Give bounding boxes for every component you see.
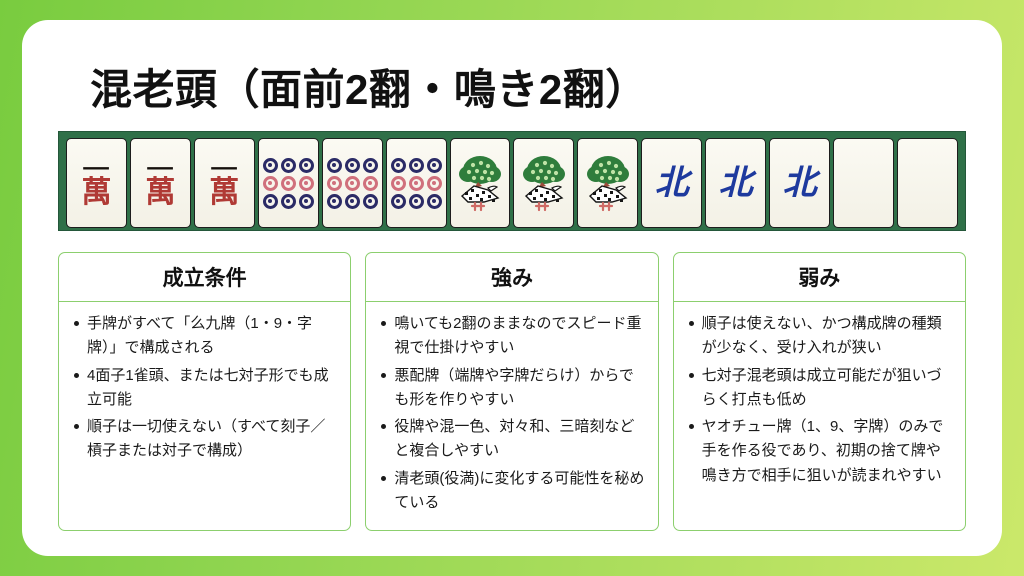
1-sou-tile — [513, 138, 574, 228]
man-bottom-glyph: 萬 — [209, 178, 239, 208]
north-glyph: 北 — [719, 166, 753, 200]
list-item: 清老頭(役満)に変化する可能性を秘めている — [394, 467, 645, 516]
page-title: 混老頭（面前2翻・鳴き2翻） — [90, 56, 648, 117]
list-item: 順子は使えない、かつ構成牌の種類が少なく、受け入れが狭い — [702, 312, 953, 361]
north-wind-tile: 北 — [705, 138, 766, 228]
list-item: 悪配牌（端牌や字牌だらけ）からでも形を作りやすい — [394, 364, 645, 413]
pin-dots-icon — [326, 157, 378, 209]
bird-bamboo-icon — [582, 152, 634, 214]
man-bottom-glyph: 萬 — [145, 178, 175, 208]
9-pin-tile — [386, 138, 447, 228]
slide-panel: 混老頭（面前2翻・鳴き2翻） 一 萬 一 萬 一 萬 — [22, 20, 1002, 556]
card-strengths: 強み 鳴いても2翻のままなのでスピード重視で仕掛けやすい 悪配牌（端牌や字牌だら… — [365, 252, 658, 531]
card-body: 手牌がすべて「么九牌（1・9・字牌）」で構成される 4面子1雀頭、または七対子形… — [59, 302, 350, 479]
list-item: 4面子1雀頭、または七対子形でも成立可能 — [87, 364, 338, 413]
mahjong-tile-strip: 一 萬 一 萬 一 萬 — [58, 131, 966, 231]
list-item: 鳴いても2翻のままなのでスピード重視で仕掛けやすい — [394, 312, 645, 361]
bullet-list: 手牌がすべて「么九牌（1・9・字牌）」で構成される 4面子1雀頭、または七対子形… — [69, 312, 338, 464]
north-glyph: 北 — [655, 166, 689, 200]
list-item: 手牌がすべて「么九牌（1・9・字牌）」で構成される — [87, 312, 338, 361]
card-weaknesses: 弱み 順子は使えない、かつ構成牌の種類が少なく、受け入れが狭い 七対子混老頭は成… — [673, 252, 966, 531]
list-item: 順子は一切使えない（すべて刻子／槓子または対子で構成） — [87, 415, 338, 464]
1-man-tile: 一 萬 — [194, 138, 255, 228]
bird-bamboo-icon — [518, 152, 570, 214]
bullet-list: 順子は使えない、かつ構成牌の種類が少なく、受け入れが狭い 七対子混老頭は成立可能… — [684, 312, 953, 488]
list-item: ヤオチュー牌（1、9、字牌）のみで手を作る役であり、初期の捨て牌や鳴き方で相手に… — [702, 415, 953, 488]
9-pin-tile — [322, 138, 383, 228]
man-top-glyph: 一 — [147, 161, 174, 177]
bullet-list: 鳴いても2翻のままなのでスピード重視で仕掛けやすい 悪配牌（端牌や字牌だらけ）か… — [376, 312, 645, 515]
blank-tile — [833, 138, 894, 228]
card-body: 順子は使えない、かつ構成牌の種類が少なく、受け入れが狭い 七対子混老頭は成立可能… — [674, 302, 965, 503]
card-heading: 弱み — [674, 253, 965, 302]
1-sou-tile — [577, 138, 638, 228]
man-bottom-glyph: 萬 — [81, 178, 111, 208]
north-wind-tile: 北 — [641, 138, 702, 228]
bird-bamboo-icon — [454, 152, 506, 214]
info-card-row: 成立条件 手牌がすべて「么九牌（1・9・字牌）」で構成される 4面子1雀頭、また… — [58, 252, 966, 531]
list-item: 七対子混老頭は成立可能だが狙いづらく打点も低め — [702, 364, 953, 413]
list-item: 役牌や混一色、対々和、三暗刻などと複合しやすい — [394, 415, 645, 464]
pin-dots-icon — [390, 157, 442, 209]
1-man-tile: 一 萬 — [66, 138, 127, 228]
north-glyph: 北 — [783, 166, 817, 200]
card-heading: 強み — [366, 253, 657, 302]
card-heading: 成立条件 — [59, 253, 350, 302]
card-body: 鳴いても2翻のままなのでスピード重視で仕掛けやすい 悪配牌（端牌や字牌だらけ）か… — [366, 302, 657, 530]
man-top-glyph: 一 — [83, 161, 110, 177]
pin-dots-icon — [262, 157, 314, 209]
1-man-tile: 一 萬 — [130, 138, 191, 228]
blank-tile — [897, 138, 958, 228]
1-sou-tile — [450, 138, 511, 228]
card-conditions: 成立条件 手牌がすべて「么九牌（1・9・字牌）」で構成される 4面子1雀頭、また… — [58, 252, 351, 531]
9-pin-tile — [258, 138, 319, 228]
man-top-glyph: 一 — [211, 161, 238, 177]
north-wind-tile: 北 — [769, 138, 830, 228]
